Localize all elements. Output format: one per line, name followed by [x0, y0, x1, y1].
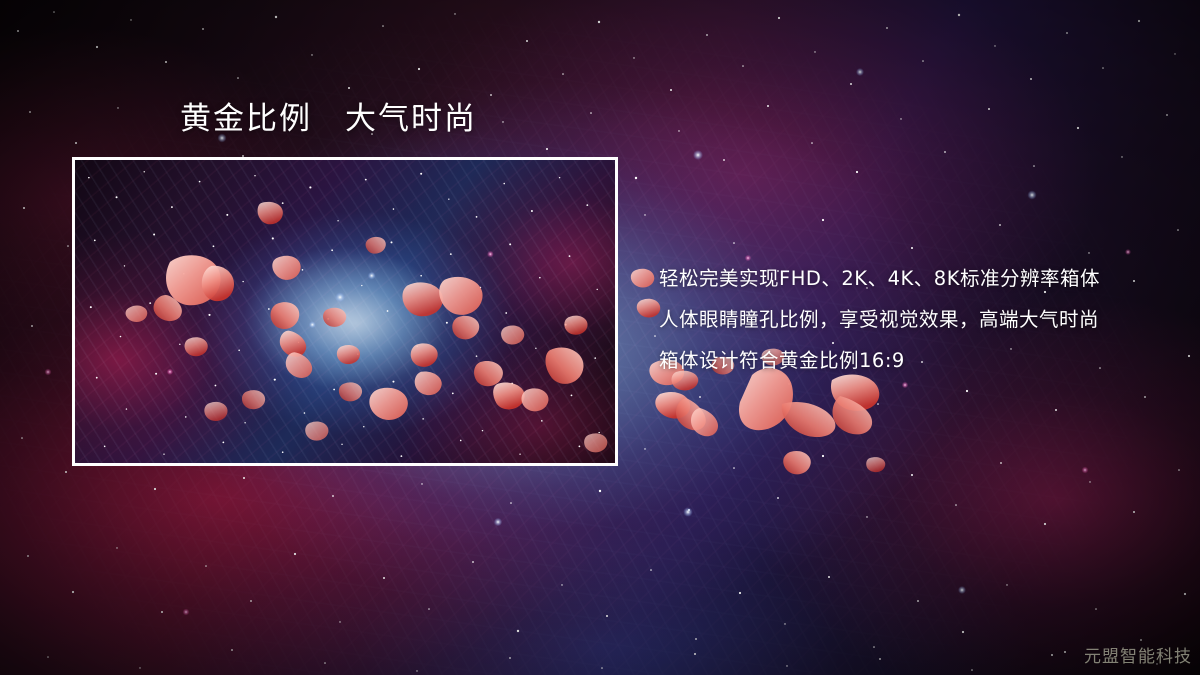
framed-image-content [75, 160, 615, 463]
framed-nebula-filaments [75, 160, 615, 463]
page-title: 黄金比例 大气时尚 [180, 101, 477, 138]
body-copy: 轻松完美实现FHD、2K、4K、8K标准分辨率箱体 人体眼睛瞳孔比例，享受视觉效… [659, 258, 1179, 381]
body-line-3: 箱体设计符合黄金比例16:9 [659, 340, 1179, 381]
framed-image [72, 157, 618, 466]
body-line-1: 轻松完美实现FHD、2K、4K、8K标准分辨率箱体 [659, 258, 1179, 299]
body-line-2: 人体眼睛瞳孔比例，享受视觉效果，高端大气时尚 [659, 299, 1179, 340]
watermark: 元盟智能科技 [1084, 642, 1192, 667]
slide-canvas: 黄金比例 大气时尚 轻松完美实现FHD、2K、4K、8K标准分辨率箱体 人体眼睛… [0, 0, 1200, 675]
